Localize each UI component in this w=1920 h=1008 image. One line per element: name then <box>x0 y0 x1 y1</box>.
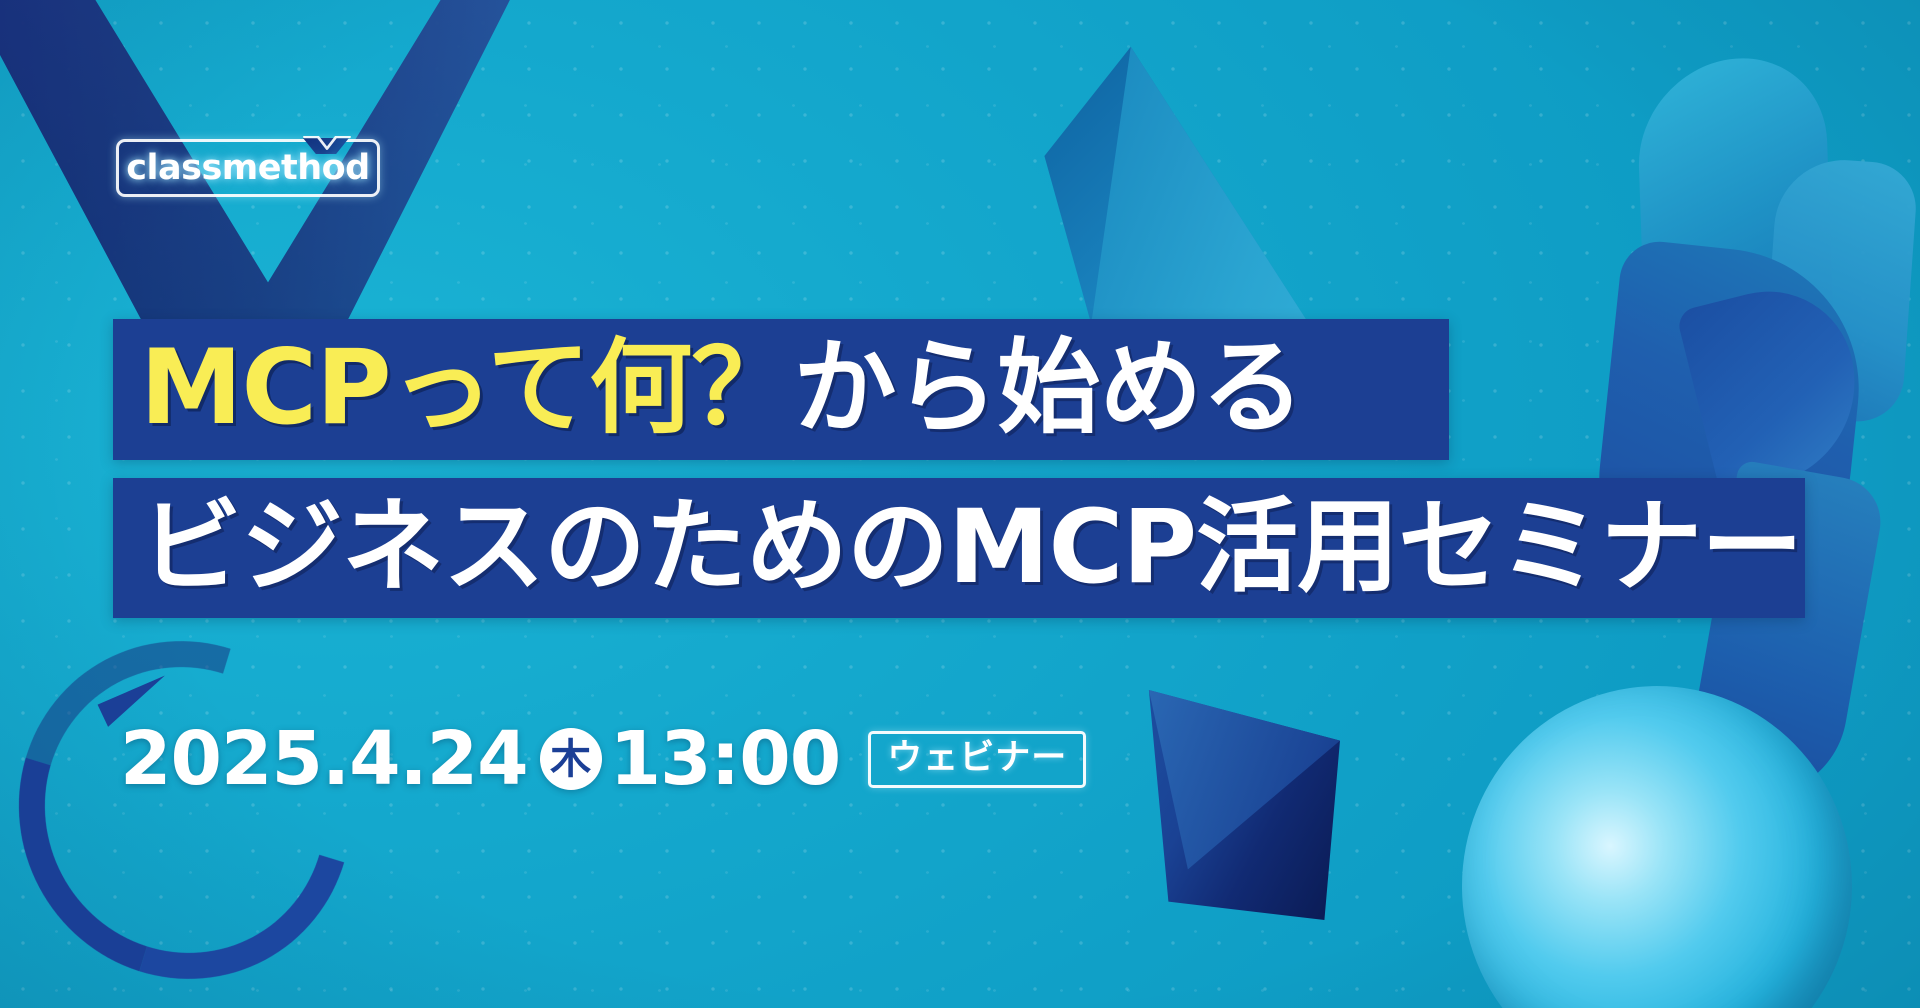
event-datetime-row: 2025.4.24 木 13:00 ウェビナー <box>120 724 1086 794</box>
logo-wordmark: classmethod <box>126 151 369 186</box>
title-rest-text: から始める <box>793 328 1303 448</box>
ribbon-shape-decoration <box>1600 40 1920 760</box>
format-badge: ウェビナー <box>868 731 1086 788</box>
weekday-badge: 木 <box>540 728 602 790</box>
title-line-2: ビジネスのためのMCP活用セミナー <box>140 497 1802 599</box>
title-line-1: MCPって何？から始める <box>140 337 1303 440</box>
event-date: 2025.4.24 <box>120 722 528 796</box>
seminar-banner: classmethod MCPって何？から始める ビジネスのためのMCP活用セミ… <box>0 0 1920 1008</box>
weekday-label: 木 <box>550 739 591 780</box>
format-badge-label: ウェビナー <box>887 738 1067 778</box>
title-highlight-text: MCPって何？ <box>140 328 793 448</box>
arc-shape-decoration <box>20 640 350 980</box>
classmethod-logo[interactable]: classmethod <box>116 139 380 197</box>
event-time: 13:00 <box>610 722 841 796</box>
